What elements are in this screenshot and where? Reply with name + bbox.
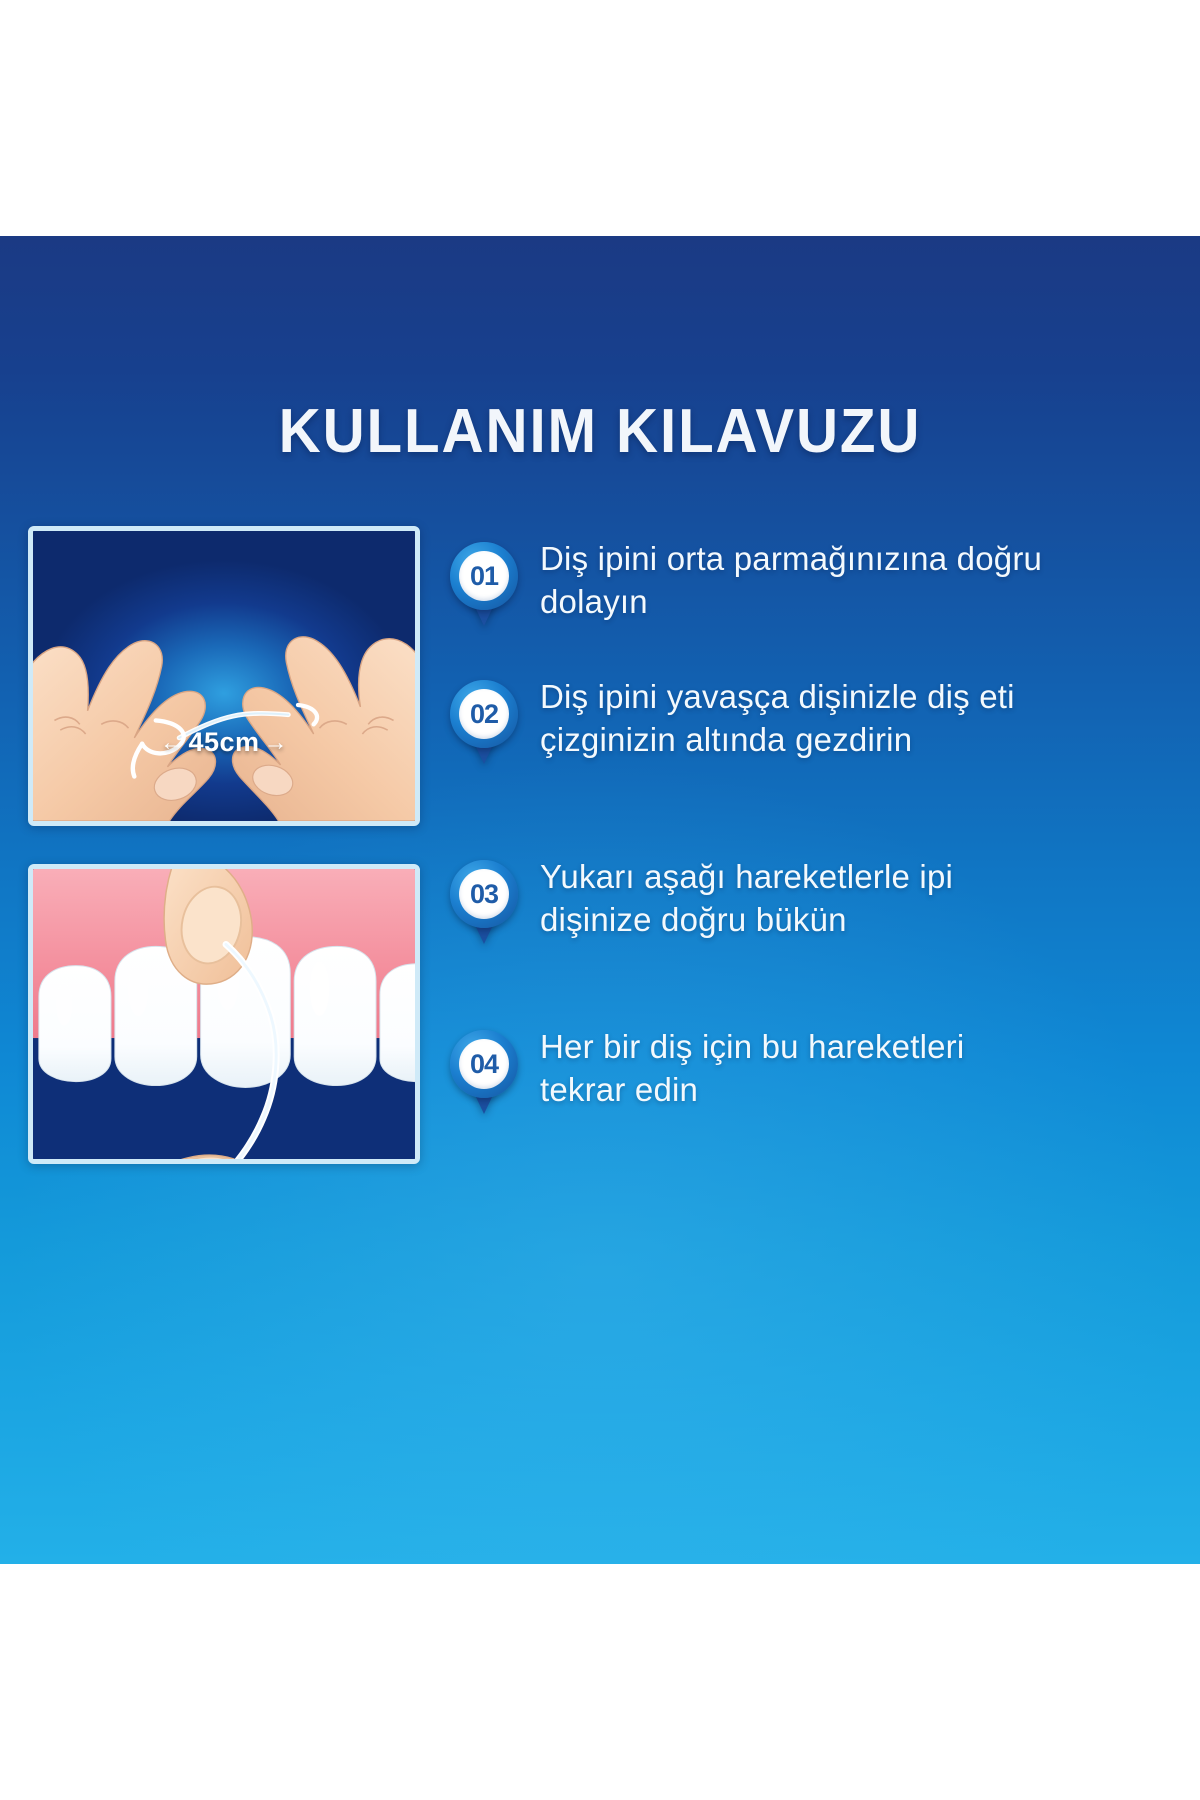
step-description: Diş ipini yavaşça dişinizle diş eti çizg… [540, 676, 1050, 762]
step-badge-02: 02 [450, 680, 518, 764]
pin-disc: 01 [459, 551, 509, 601]
illustration-column: ← 45cm → [28, 526, 420, 1164]
infographic-page: KULLANIM KILAVUZU [0, 0, 1200, 1800]
hands-holding-floss-icon [33, 531, 415, 821]
step-item-02: 02 Diş ipini yavaşça dişinizle diş eti ç… [450, 676, 1050, 764]
step-badge-04: 04 [450, 1030, 518, 1114]
step-description: Yukarı aşağı hareketlerle ipi dişinize d… [540, 856, 1050, 942]
page-title: KULLANIM KILAVUZU [36, 396, 1164, 467]
step-number: 03 [470, 879, 498, 910]
pin-disc: 03 [459, 869, 509, 919]
step-number: 04 [470, 1049, 498, 1080]
arrow-right-icon: → [264, 731, 289, 755]
step-number: 01 [470, 561, 498, 592]
measurement-label: ← 45cm → [160, 727, 288, 758]
arrow-left-icon: ← [160, 731, 185, 755]
illustration-teeth-floss [28, 864, 420, 1164]
bottom-margin [0, 1564, 1200, 1800]
flossing-between-teeth-icon [33, 869, 415, 1159]
step-badge-01: 01 [450, 542, 518, 626]
step-item-03: 03 Yukarı aşağı hareketlerle ipi dişiniz… [450, 856, 1050, 944]
step-description: Her bir diş için bu hareketleri tekrar e… [540, 1026, 1050, 1112]
pin-disc: 02 [459, 689, 509, 739]
step-item-04: 04 Her bir diş için bu hareketleri tekra… [450, 1026, 1050, 1114]
step-item-01: 01 Diş ipini orta parmağınızına doğru do… [450, 538, 1050, 626]
step-description: Diş ipini orta parmağınızına doğru dolay… [540, 538, 1050, 624]
step-number: 02 [470, 699, 498, 730]
illustration-hands-floss: ← 45cm → [28, 526, 420, 826]
top-margin [0, 0, 1200, 236]
content-area: ← 45cm → [0, 526, 1200, 1446]
step-badge-03: 03 [450, 860, 518, 944]
measurement-value: 45cm [188, 727, 259, 758]
instruction-board: KULLANIM KILAVUZU [0, 236, 1200, 1564]
pin-disc: 04 [459, 1039, 509, 1089]
